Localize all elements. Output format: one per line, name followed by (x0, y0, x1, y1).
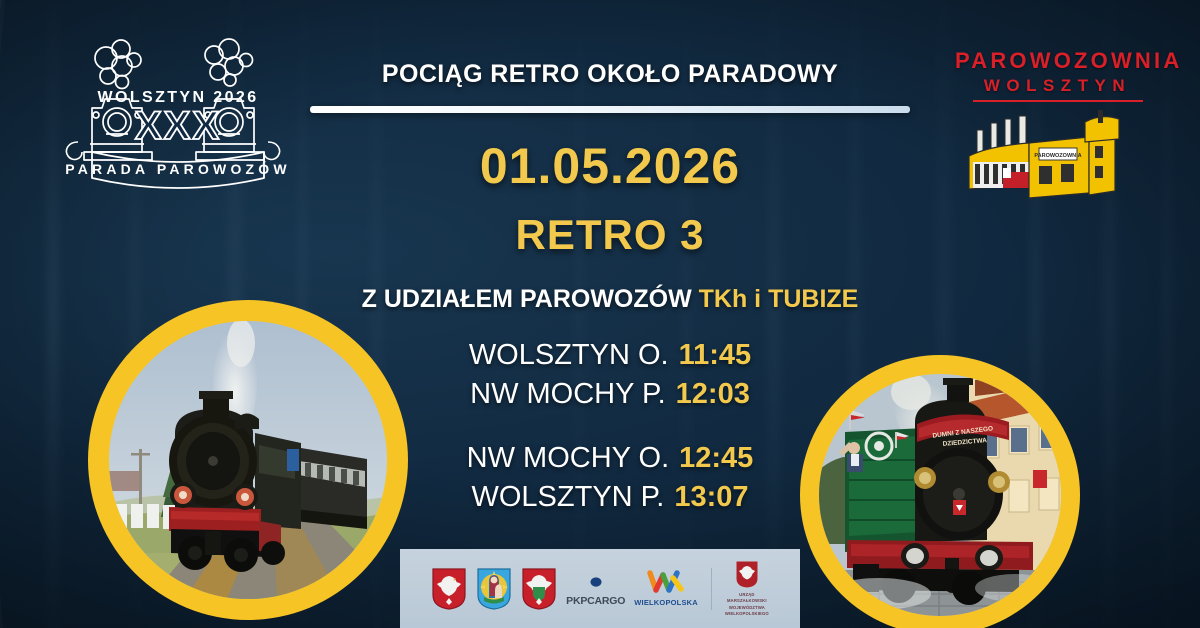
with-locomotives-line: Z UDZIAŁEM PAROWOZÓW TKh i TUBIZE (362, 285, 859, 314)
smoke-right-icon (205, 39, 253, 86)
table-row: WOLSZTYN O. 11:45 (300, 336, 920, 375)
parowozownia-line2: WOLSZTYN (955, 76, 1160, 96)
smoke-left-icon (95, 40, 141, 89)
table-row: NW MOCHY P. 12:03 (300, 375, 920, 414)
table-row: WOLSZTYN P. 13:07 (300, 478, 920, 517)
timetable-group-outbound: WOLSZTYN O. 11:45 NW MOCHY P. 12:03 (300, 336, 920, 413)
station-time: 12:03 (676, 375, 750, 414)
title-divider (310, 106, 910, 113)
train-name: RETRO 3 (515, 211, 704, 259)
centre-content: POCIĄG RETRO OKOŁO PARADOWY 01.05.2026 R… (300, 0, 920, 628)
with-locomotives-highlight: TKh i TUBIZE (699, 285, 859, 313)
parowozownia-line1: PAROWOZOWNIA (955, 48, 1160, 74)
page-title: POCIĄG RETRO OKOŁO PARADOWY (382, 60, 838, 89)
station-name: NW MOCHY O. (467, 439, 669, 478)
emblem-banner-text: PARADA PAROWOZÓW (65, 160, 291, 177)
station-time: 11:45 (679, 336, 752, 375)
roundhouse-illustration: PAROWOZOWNIA (955, 106, 1160, 206)
parowozownia-wolsztyn-logo: PAROWOZOWNIA WOLSZTYN (955, 48, 1160, 193)
with-locomotives-prefix: Z UDZIAŁEM PAROWOZÓW (362, 285, 692, 313)
timetable-group-return: NW MOCHY O. 12:45 WOLSZTYN P. 13:07 (300, 439, 920, 516)
station-name: WOLSZTYN P. (471, 478, 664, 517)
station-time: 12:45 (679, 439, 753, 478)
parowozownia-underline (973, 100, 1143, 102)
event-date: 01.05.2026 (480, 137, 740, 195)
timetable: WOLSZTYN O. 11:45 NW MOCHY P. 12:03 NW M… (300, 336, 920, 516)
station-time: 13:07 (674, 478, 748, 517)
poster-root: WOLSZTYN 2026 XXX PARADA PAROWOZÓW WOLSZ… (0, 0, 1200, 628)
emblem-numeral: XXX (135, 104, 221, 148)
table-row: NW MOCHY O. 12:45 (300, 439, 920, 478)
station-name: WOLSZTYN O. (469, 336, 669, 375)
parada-parowozow-emblem: WOLSZTYN 2026 XXX PARADA PAROWOZÓW WOLSZ… (62, 22, 294, 192)
svg-text:PAROWOZOWNIA: PAROWOZOWNIA (1034, 153, 1081, 159)
station-name: NW MOCHY P. (470, 375, 666, 414)
